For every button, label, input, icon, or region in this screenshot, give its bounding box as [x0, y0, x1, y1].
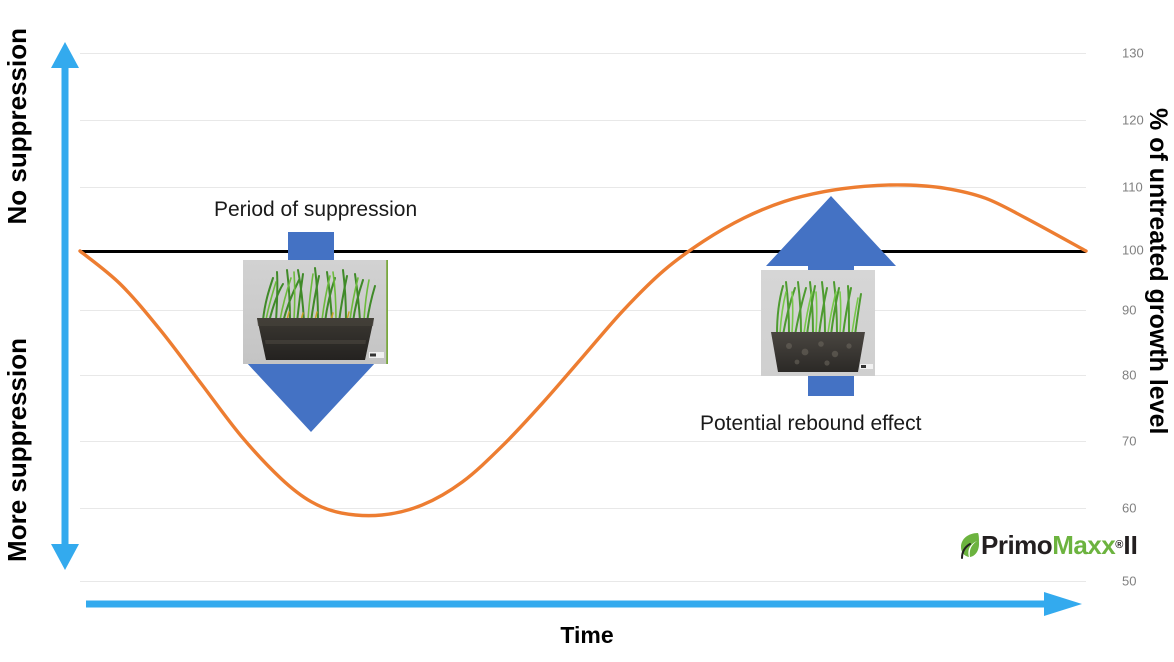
- left-axis-bottom-label: More suppression: [2, 338, 33, 562]
- ytick-90: 90: [1122, 303, 1136, 318]
- right-axis-title: % of untreated growth level: [1143, 108, 1172, 434]
- ytick-80: 80: [1122, 368, 1136, 383]
- time-axis-arrow-icon: [84, 592, 1084, 616]
- primo-maxx-logo: Primo Maxx ® II: [958, 528, 1138, 562]
- potential-rebound-effect-label: Potential rebound effect: [700, 412, 921, 436]
- plot-area: [80, 0, 1086, 662]
- suppression-double-arrow-icon: [48, 40, 82, 572]
- time-axis-title: Time: [0, 622, 1174, 649]
- leaf-logo-icon: [958, 530, 980, 560]
- ytick-120: 120: [1122, 113, 1144, 128]
- growth-response-curve: [80, 0, 1086, 662]
- grass-pot-suppressed-photo: [243, 260, 388, 364]
- logo-primo-text: Primo: [981, 532, 1052, 558]
- ytick-100: 100: [1122, 243, 1144, 258]
- logo-registered-mark: ®: [1115, 539, 1123, 551]
- ytick-130: 130: [1122, 46, 1144, 61]
- ytick-110: 110: [1122, 180, 1143, 195]
- period-of-suppression-label: Period of suppression: [214, 198, 417, 222]
- ytick-70: 70: [1122, 434, 1136, 449]
- chart-canvas: No suppression More suppression 130 120 …: [0, 0, 1174, 662]
- logo-maxx-text: Maxx: [1052, 532, 1115, 558]
- ytick-60: 60: [1122, 501, 1136, 516]
- grass-pot-rebound-photo: [761, 270, 875, 376]
- ytick-50: 50: [1122, 574, 1136, 589]
- logo-edition-text: II: [1123, 530, 1137, 561]
- left-axis-top-label: No suppression: [2, 28, 33, 224]
